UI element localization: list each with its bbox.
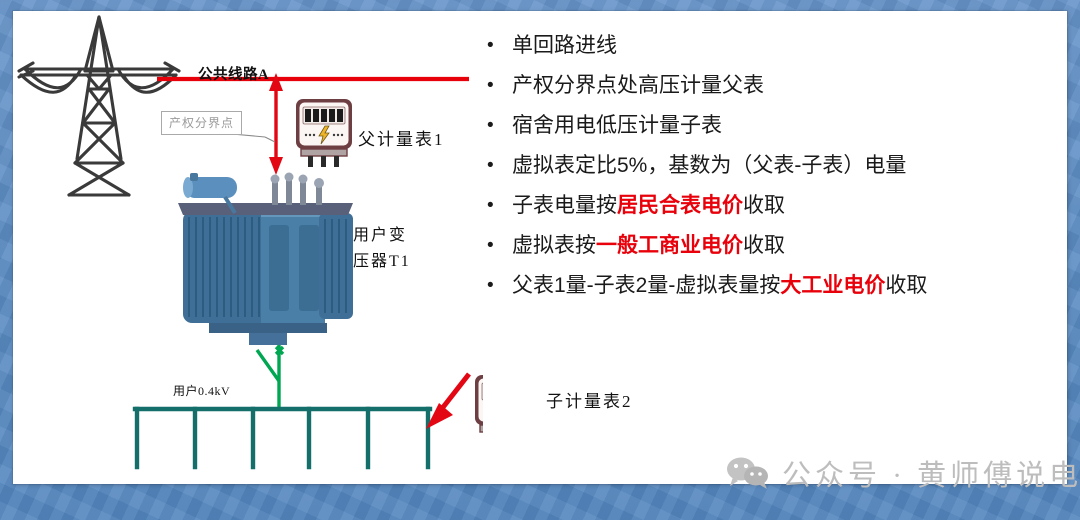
bullet-plain: 产权分界点处高压计量父表 <box>512 74 764 97</box>
bullet-plain: 收取 <box>743 194 785 217</box>
red-arrow-icon <box>426 374 469 429</box>
arrow-head-up <box>269 73 283 91</box>
arrow-head-down <box>269 157 283 175</box>
transmission-tower-icon <box>19 17 179 195</box>
bullet-text: 虚拟表定比5%，基数为（父表-子表）电量 <box>512 150 1007 181</box>
bullet-plain: 单回路进线 <box>512 34 617 57</box>
bullet-highlight: 大工业电价 <box>780 274 885 297</box>
bullet-text: 虚拟表按一般工商业电价收取 <box>512 230 1007 261</box>
meter2-label: 子计量表2 <box>546 387 633 412</box>
watermark-text: 公众号 · 黄师傅说电 <box>782 452 1080 494</box>
bullet-plain: 收取 <box>885 274 927 297</box>
slide-root: 公共线路A 产权分界点 父计量表1 用户变 压器T1 用户0.4kV 子计量表2… <box>0 0 1080 520</box>
bullet-marker-icon: • <box>487 110 512 141</box>
meter1-label: 父计量表1 <box>358 125 445 150</box>
bullet-marker-icon: • <box>487 30 512 61</box>
boundary-point-callout: 产权分界点 <box>161 111 242 135</box>
bullet-plain: 收取 <box>743 234 785 257</box>
bullet-marker-icon: • <box>487 190 512 221</box>
bullet-highlight: 居民合表电价 <box>617 194 743 217</box>
wechat-watermark: 公众号 · 黄师傅说电 <box>726 452 1080 494</box>
busbar-0.4kv <box>135 409 430 467</box>
bullet-plain: 虚拟表定比5%，基数为（父表-子表）电量 <box>512 154 906 177</box>
transformer-label-line1: 用户变 <box>353 223 411 249</box>
power-transformer-icon <box>178 173 353 346</box>
bullet-item: •宿舍用电低压计量子表 <box>487 110 1007 141</box>
bullet-plain: 宿舍用电低压计量子表 <box>512 114 722 137</box>
bullet-marker-icon: • <box>487 70 512 101</box>
bullet-highlight: 一般工商业电价 <box>596 234 743 257</box>
bullet-text: 宿舍用电低压计量子表 <box>512 110 1007 141</box>
public-line-label: 公共线路A <box>198 63 269 84</box>
transformer-label-line2: 压器T1 <box>353 249 411 275</box>
busbar-label: 用户0.4kV <box>173 382 230 399</box>
bullet-list: •单回路进线•产权分界点处高压计量父表•宿舍用电低压计量子表•虚拟表定比5%，基… <box>487 30 1007 310</box>
bullet-text: 子表电量按居民合表电价收取 <box>512 190 1007 221</box>
bullet-marker-icon: • <box>487 230 512 261</box>
bullet-plain: 子表电量按 <box>512 194 617 217</box>
wechat-icon <box>726 456 770 490</box>
bullet-text: 产权分界点处高压计量父表 <box>512 70 1007 101</box>
bullet-item: •产权分界点处高压计量父表 <box>487 70 1007 101</box>
bullet-marker-icon: • <box>487 150 512 181</box>
bullet-plain: 虚拟表按 <box>512 234 596 257</box>
bullet-item: •虚拟表按一般工商业电价收取 <box>487 230 1007 261</box>
single-line-diagram: 公共线路A 产权分界点 父计量表1 用户变 压器T1 用户0.4kV 子计量表2 <box>13 11 483 471</box>
bullet-item: •子表电量按居民合表电价收取 <box>487 190 1007 221</box>
callout-leader-line <box>265 137 275 142</box>
bullet-text: 单回路进线 <box>512 30 1007 61</box>
bullet-item: •单回路进线 <box>487 30 1007 61</box>
bullet-item: •父表1量-子表2量-虚拟表量按大工业电价收取 <box>487 270 1007 301</box>
bullet-item: •虚拟表定比5%，基数为（父表-子表）电量 <box>487 150 1007 181</box>
transformer-label: 用户变 压器T1 <box>353 223 411 275</box>
electric-meter-1-icon <box>296 99 352 167</box>
bullet-plain: 父表1量-子表2量-虚拟表量按 <box>512 274 780 297</box>
bullet-marker-icon: • <box>487 270 512 301</box>
bullet-text: 父表1量-子表2量-虚拟表量按大工业电价收取 <box>512 270 1007 301</box>
electric-meter-2-icon <box>475 375 483 443</box>
